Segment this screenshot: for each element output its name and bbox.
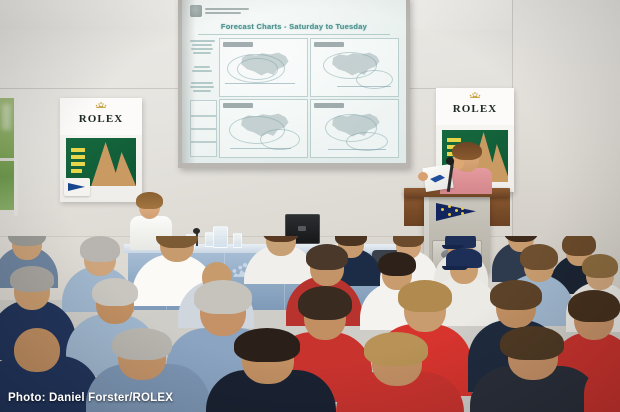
- slide-title: Forecast Charts - Saturday to Tuesday: [182, 22, 406, 31]
- baseball-cap: [446, 248, 482, 268]
- window-frame: [14, 92, 18, 216]
- map-panel-label: [314, 42, 344, 47]
- podium-badge: [434, 200, 478, 224]
- speaker-hair: [452, 142, 482, 160]
- podium-wing-left: [404, 192, 426, 226]
- slide-body: [189, 38, 399, 158]
- forecast-map-panel: [219, 99, 308, 158]
- yacht-burgee-icon: [68, 183, 85, 191]
- slide-organisation-logo: [190, 5, 256, 17]
- right-wall: [512, 0, 620, 268]
- rolex-crown-icon: [470, 92, 481, 99]
- organisation-line-2: [205, 12, 241, 14]
- microphone-head: [446, 157, 454, 165]
- cyca-burgee-icon: [436, 203, 476, 221]
- map-panel-label: [223, 42, 253, 47]
- forecast-map-panel: [310, 38, 399, 97]
- slide-title-rule: [198, 34, 390, 35]
- banner-text-line: [447, 138, 461, 142]
- projection-screen: Forecast Charts - Saturday to Tuesday: [182, 0, 406, 163]
- podium-wing-right: [488, 192, 510, 226]
- banner-text-line: [71, 148, 85, 152]
- rolex-banner-left: ROLEX: [60, 98, 142, 202]
- seated-presenter-hair: [136, 192, 163, 209]
- map-panel-label: [223, 103, 253, 108]
- speaker-hand: [418, 172, 428, 181]
- forecast-map-panel: [310, 99, 399, 158]
- forecast-map-panel: [219, 38, 308, 97]
- banner-text-line: [71, 155, 85, 159]
- rolex-wordmark: ROLEX: [436, 103, 514, 115]
- laptop-logo: [298, 226, 306, 231]
- map-panel-label: [314, 103, 344, 108]
- table-microphone-head: [193, 228, 200, 234]
- rolex-crown-icon: [96, 102, 107, 109]
- photograph: Forecast Charts - Saturday to Tuesday: [0, 0, 620, 412]
- rolex-wordmark: ROLEX: [60, 113, 142, 125]
- banner-top-panel: ROLEX: [60, 98, 142, 135]
- chart-sheet-mark: [430, 174, 446, 183]
- burgee-patch: [64, 178, 90, 196]
- window-glare: [2, 104, 11, 130]
- banner-text-line: [71, 162, 85, 166]
- banner-top-panel: ROLEX: [436, 88, 514, 125]
- organisation-line-1: [205, 8, 249, 10]
- forecast-map-grid: [219, 38, 399, 158]
- screen-shadow: [182, 0, 196, 163]
- sail-shape: [112, 152, 136, 186]
- audience: [0, 236, 620, 412]
- banner-text-line: [71, 169, 82, 173]
- photo-credit: Photo: Daniel Forster/ROLEX: [8, 392, 173, 404]
